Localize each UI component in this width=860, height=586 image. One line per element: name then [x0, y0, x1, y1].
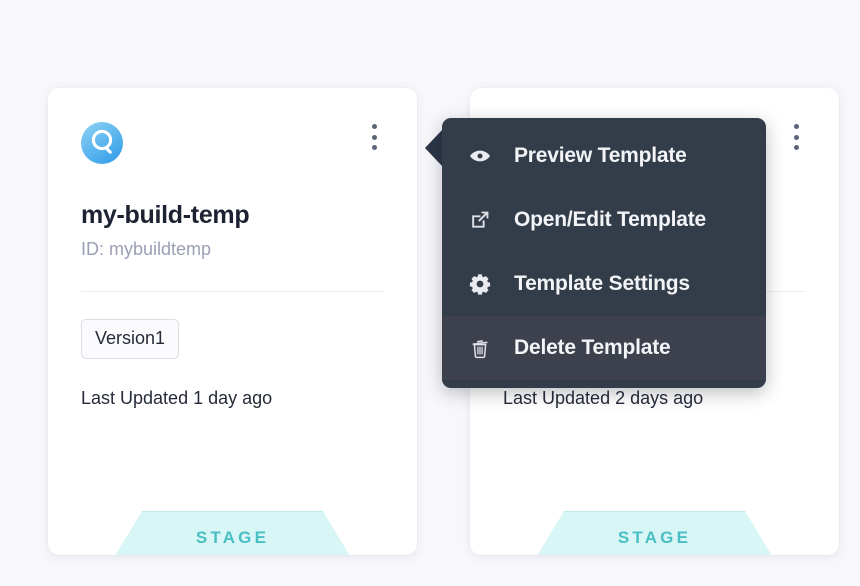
template-card[interactable]: my-build-temp ID: mybuildtemp Version1 L… — [48, 88, 417, 555]
page-root: my-build-temp ID: mybuildtemp Version1 L… — [0, 0, 860, 586]
card-menu-button[interactable] — [786, 124, 806, 150]
kebab-dot — [794, 135, 799, 140]
search-template-icon — [81, 122, 123, 164]
external-link-icon — [468, 208, 502, 232]
kebab-dot — [372, 124, 377, 129]
menu-item-label: Preview Template — [514, 144, 687, 168]
card-menu-button[interactable] — [364, 124, 384, 150]
stage-badge: STAGE — [111, 511, 355, 555]
menu-item-label: Delete Template — [514, 336, 671, 360]
last-updated-label: Last Updated 2 days ago — [503, 388, 806, 409]
context-menu-arrow — [425, 129, 443, 167]
menu-item-label: Template Settings — [514, 272, 690, 296]
version-chip[interactable]: Version1 — [81, 319, 179, 359]
menu-item-template-settings[interactable]: Template Settings — [442, 252, 766, 316]
card-header: my-build-temp ID: mybuildtemp Version1 L… — [48, 88, 417, 409]
stage-badge-label: STAGE — [196, 528, 269, 548]
trash-icon — [468, 336, 502, 360]
kebab-dot — [372, 135, 377, 140]
divider — [81, 291, 384, 292]
stage-badge: STAGE — [533, 511, 777, 555]
menu-item-preview-template[interactable]: Preview Template — [442, 124, 766, 188]
last-updated-label: Last Updated 1 day ago — [81, 388, 384, 409]
page-title: my-build-temp — [81, 201, 384, 230]
menu-item-open-edit-template[interactable]: Open/Edit Template — [442, 188, 766, 252]
eye-icon — [468, 144, 502, 168]
kebab-dot — [372, 145, 377, 150]
menu-item-label: Open/Edit Template — [514, 208, 706, 232]
gear-icon — [468, 272, 502, 296]
kebab-dot — [794, 145, 799, 150]
template-id-label: ID: mybuildtemp — [81, 239, 384, 260]
stage-badge-label: STAGE — [618, 528, 691, 548]
context-menu: Preview Template Open/Edit Template Temp… — [442, 118, 766, 388]
menu-item-delete-template[interactable]: Delete Template — [442, 316, 766, 380]
kebab-dot — [794, 124, 799, 129]
